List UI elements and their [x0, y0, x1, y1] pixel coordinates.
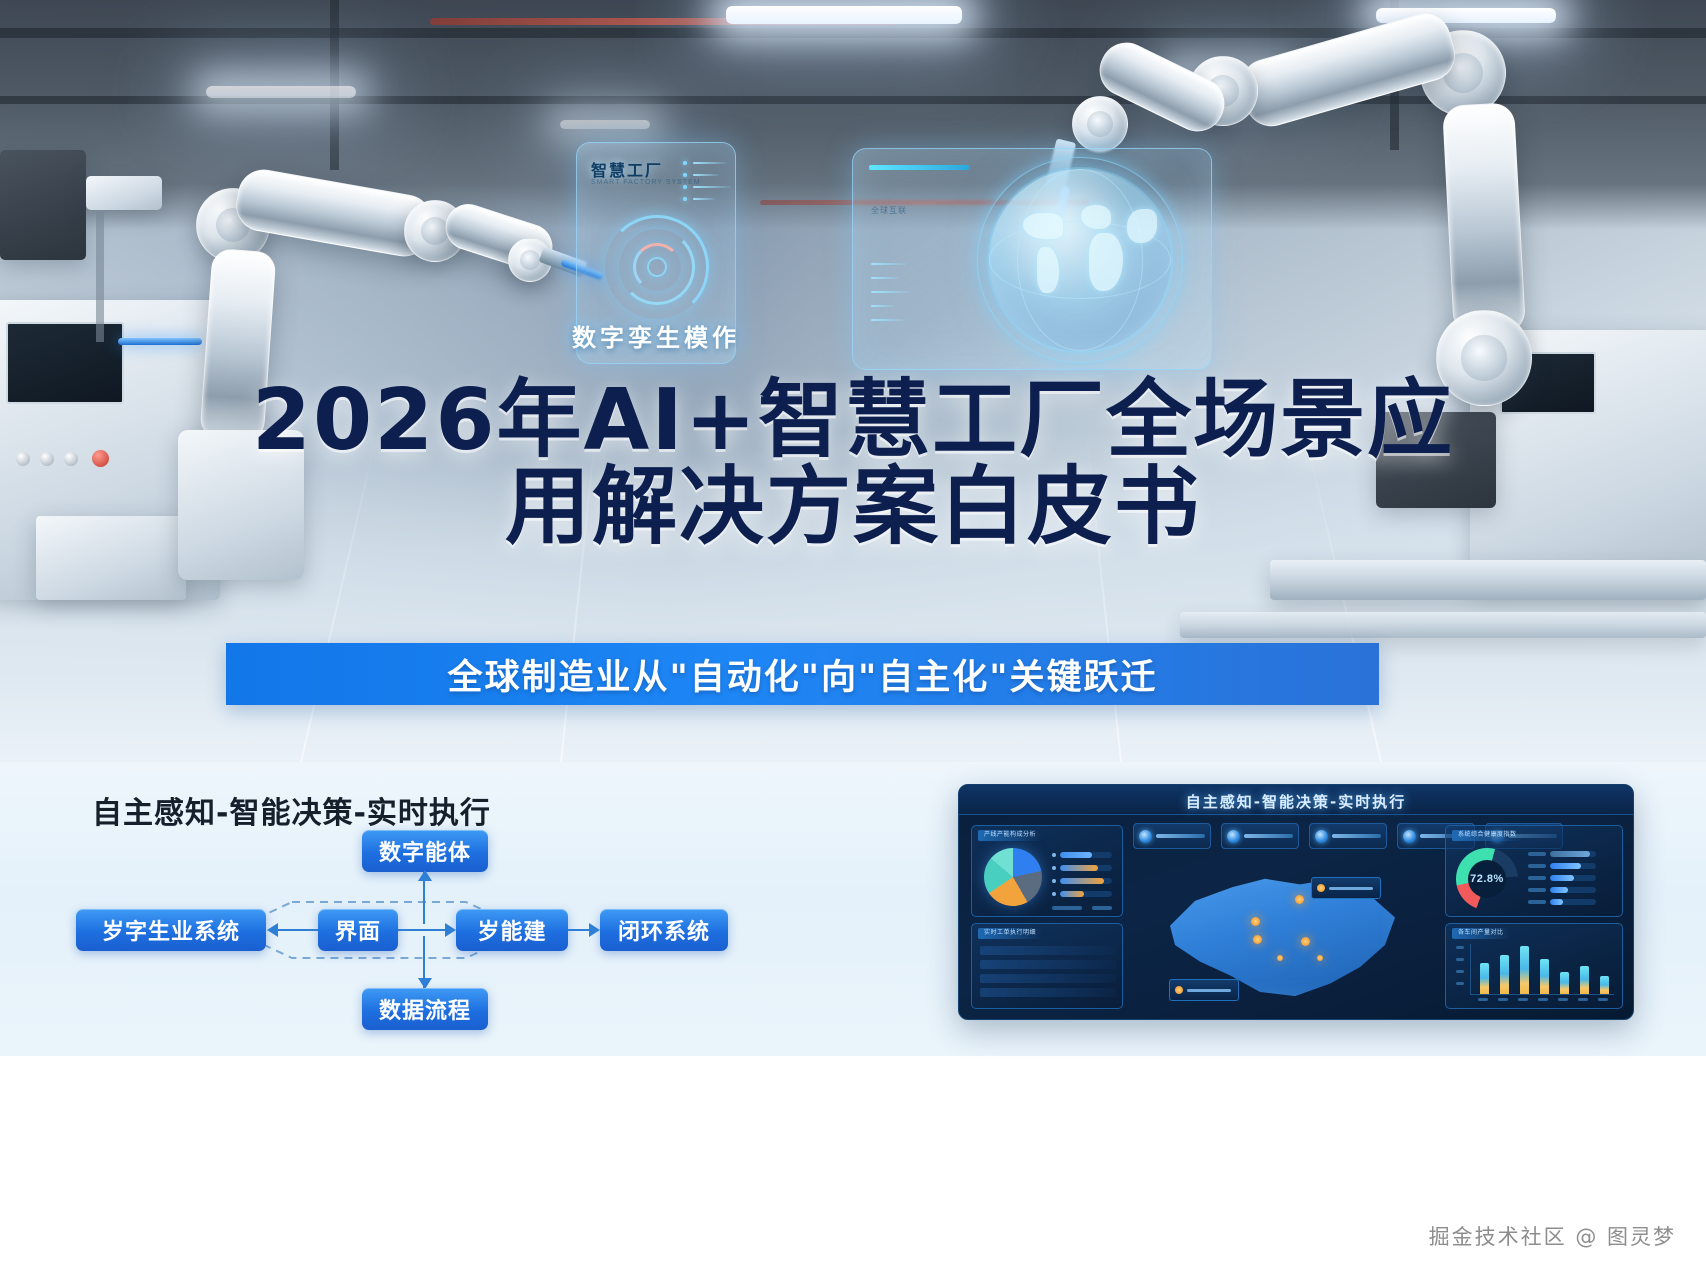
map-tooltip — [1311, 877, 1381, 899]
arrow-left — [267, 923, 278, 937]
title-line-1: 2026年AI+智慧工厂全场景应 — [0, 378, 1706, 465]
panel-health-gauge: 系统综合健康度指数 72.8% — [1445, 825, 1623, 917]
gauge-value: 72.8% — [1468, 860, 1506, 898]
robot-joint — [1072, 96, 1128, 152]
table-row — [980, 960, 1116, 969]
machine-arm-block — [86, 176, 162, 210]
arrow-right — [589, 923, 600, 937]
panel-bars-caption: 各车间产量对比 — [1452, 928, 1510, 939]
robot-base-column — [1442, 102, 1526, 335]
node-interface[interactable]: 界面 — [318, 909, 398, 951]
panel-bar-chart: 各车间产量对比 — [1445, 923, 1623, 1009]
bar — [1520, 946, 1529, 994]
map-pin[interactable] — [1251, 917, 1260, 926]
dashboard-chip[interactable] — [1309, 823, 1387, 849]
bar — [1600, 976, 1609, 994]
hud-panel-global: 全球互联 — [852, 148, 1212, 370]
machine-accent-light — [118, 338, 202, 345]
poster-title: 2026年AI+智慧工厂全场景应 用解决方案白皮书 — [0, 378, 1706, 551]
node-capability-build[interactable]: 岁能建 — [456, 909, 568, 951]
connector-center-right — [398, 929, 446, 931]
conveyor-belt — [1180, 612, 1706, 638]
dashboard-chip[interactable] — [1133, 823, 1211, 849]
table-row — [980, 974, 1116, 983]
chip-icon — [1139, 830, 1152, 843]
bar — [1560, 972, 1569, 994]
hud-ring-core — [647, 257, 667, 277]
title-line-2: 用解决方案白皮书 — [0, 465, 1706, 552]
health-gauge: 72.8% — [1456, 848, 1518, 910]
chip-icon — [1403, 830, 1416, 843]
node-digital-agent[interactable]: 数字能体 — [362, 830, 488, 872]
panel-pie-chart: 产线产能构成分析 — [971, 825, 1123, 917]
hud-right-label: 全球互联 — [871, 205, 907, 216]
machine-head — [0, 150, 86, 260]
capability-diagram: 数字能体 岁字生业系统 界面 岁能建 闭环系统 数据流程 — [60, 830, 800, 1030]
dashboard-preview[interactable]: 自主感知-智能决策-实时执行 产线产能构成分析 — [958, 784, 1634, 1020]
hud-globe — [989, 169, 1171, 351]
panel-gauge-caption: 系统综合健康度指数 — [1452, 830, 1523, 841]
connector-right — [568, 929, 590, 931]
bar — [1540, 959, 1549, 994]
map-pin[interactable] — [1277, 955, 1283, 961]
map-pin[interactable] — [1301, 937, 1310, 946]
node-data-flow[interactable]: 数据流程 — [362, 988, 488, 1030]
conveyor-belt — [1270, 560, 1706, 600]
hud-left-title: 智慧工厂 — [591, 157, 663, 181]
hero-banner: 智慧工厂 SMART FACTORY SYSTEM 数字孪生模作 全球互联 — [0, 0, 1706, 762]
ceiling-light — [206, 86, 356, 98]
poster-page: 智慧工厂 SMART FACTORY SYSTEM 数字孪生模作 全球互联 — [0, 0, 1706, 1279]
subtitle-text: 全球制造业从"自动化"向"自主化"关键跃迁 — [448, 649, 1158, 700]
pie-chart — [984, 848, 1042, 906]
hud-left-caption: 数字孪生模作 — [566, 318, 746, 353]
bar — [1480, 963, 1489, 994]
bar-chart-y-axis — [1470, 944, 1471, 994]
map-pin[interactable] — [1295, 895, 1304, 904]
section-heading: 自主感知-智能决策-实时执行 — [92, 788, 491, 832]
dashboard-title: 自主感知-智能决策-实时执行 — [959, 791, 1633, 812]
bar-chart-x-axis — [1470, 994, 1614, 995]
panel-table-caption: 实时工单执行明细 — [978, 928, 1042, 939]
panel-order-table: 实时工单执行明细 — [971, 923, 1123, 1009]
table-row — [980, 946, 1116, 955]
ceiling-light — [726, 6, 962, 24]
machine-post — [96, 212, 104, 342]
subtitle-banner: 全球制造业从"自动化"向"自主化"关键跃迁 — [226, 643, 1379, 705]
map-pin[interactable] — [1317, 955, 1323, 961]
map-tooltip — [1169, 979, 1239, 1001]
bar-chart-plot — [1476, 944, 1616, 994]
node-digital-system[interactable]: 岁字生业系统 — [76, 909, 266, 951]
chip-icon — [1315, 830, 1328, 843]
map-pin[interactable] — [1253, 935, 1262, 944]
dashboard-chip[interactable] — [1221, 823, 1299, 849]
chip-icon — [1227, 830, 1240, 843]
ceiling-beam — [330, 0, 339, 170]
ceiling-light — [560, 120, 650, 129]
bar — [1580, 966, 1589, 994]
watermark: 掘金技术社区 @ 图灵梦 — [1429, 1221, 1676, 1251]
node-closed-loop[interactable]: 闭环系统 — [600, 909, 728, 951]
arrow-right — [445, 923, 456, 937]
bar — [1500, 955, 1509, 994]
connector-left — [278, 929, 318, 931]
arrow-up — [418, 870, 432, 881]
table-row — [980, 988, 1116, 997]
panel-pie-caption: 产线产能构成分析 — [978, 830, 1042, 841]
